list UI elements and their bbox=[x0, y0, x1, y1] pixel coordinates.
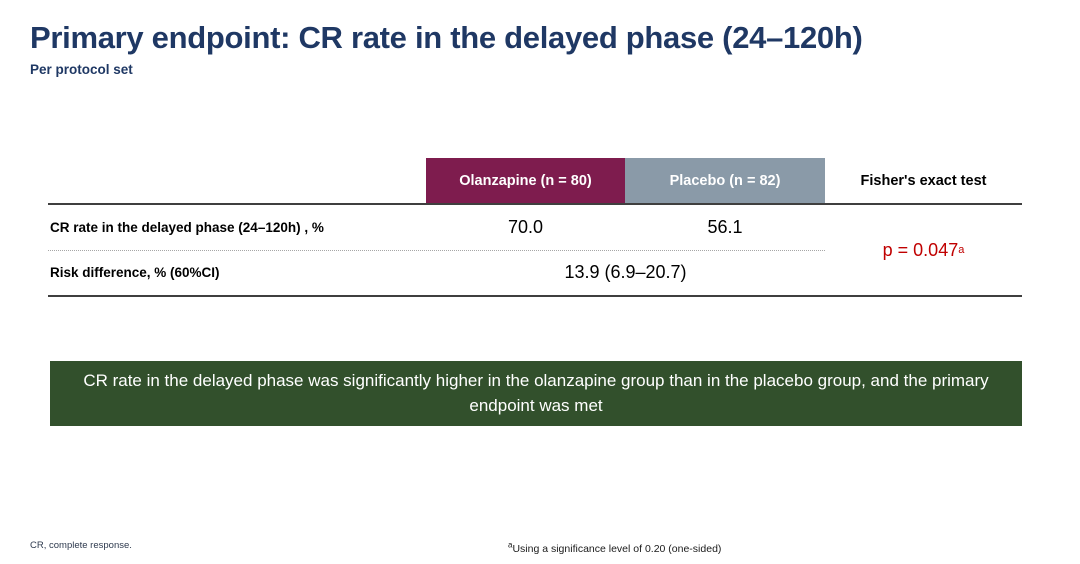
table-bottom-rule bbox=[48, 295, 1022, 297]
table-header-spacer bbox=[48, 158, 426, 203]
cell-cr-rate-placebo: 56.1 bbox=[625, 217, 825, 238]
cell-cr-rate-olanzapine: 70.0 bbox=[426, 217, 625, 238]
row-label-cr-rate: CR rate in the delayed phase (24–120h) ,… bbox=[48, 220, 426, 235]
footnote-significance-text: Using a significance level of 0.20 (one-… bbox=[512, 543, 721, 555]
table-header-row: Olanzapine (n = 80) Placebo (n = 82) Fis… bbox=[48, 158, 1022, 203]
page-subtitle: Per protocol set bbox=[30, 62, 1060, 77]
p-value-text: p = 0.047 bbox=[883, 240, 959, 261]
row-separator-dotted bbox=[48, 250, 825, 251]
page-title: Primary endpoint: CR rate in the delayed… bbox=[30, 22, 1060, 55]
p-value-cell: p = 0.047a bbox=[825, 205, 1022, 295]
footnote-significance-level: aUsing a significance level of 0.20 (one… bbox=[508, 543, 721, 555]
column-header-placebo: Placebo (n = 82) bbox=[625, 158, 825, 203]
cell-risk-difference-value: 13.9 (6.9–20.7) bbox=[426, 262, 825, 283]
conclusion-text: CR rate in the delayed phase was signifi… bbox=[78, 369, 994, 418]
table-body: CR rate in the delayed phase (24–120h) ,… bbox=[48, 205, 1022, 295]
column-header-olanzapine: Olanzapine (n = 80) bbox=[426, 158, 625, 203]
results-table: Olanzapine (n = 80) Placebo (n = 82) Fis… bbox=[48, 158, 1022, 297]
row-label-risk-difference: Risk difference, % (60%CI) bbox=[48, 265, 426, 280]
title-block: Primary endpoint: CR rate in the delayed… bbox=[30, 22, 1060, 77]
column-header-fishers-exact-test: Fisher's exact test bbox=[825, 158, 1022, 203]
conclusion-banner: CR rate in the delayed phase was signifi… bbox=[50, 361, 1022, 426]
footnote-abbreviations: CR, complete response. bbox=[30, 540, 132, 551]
